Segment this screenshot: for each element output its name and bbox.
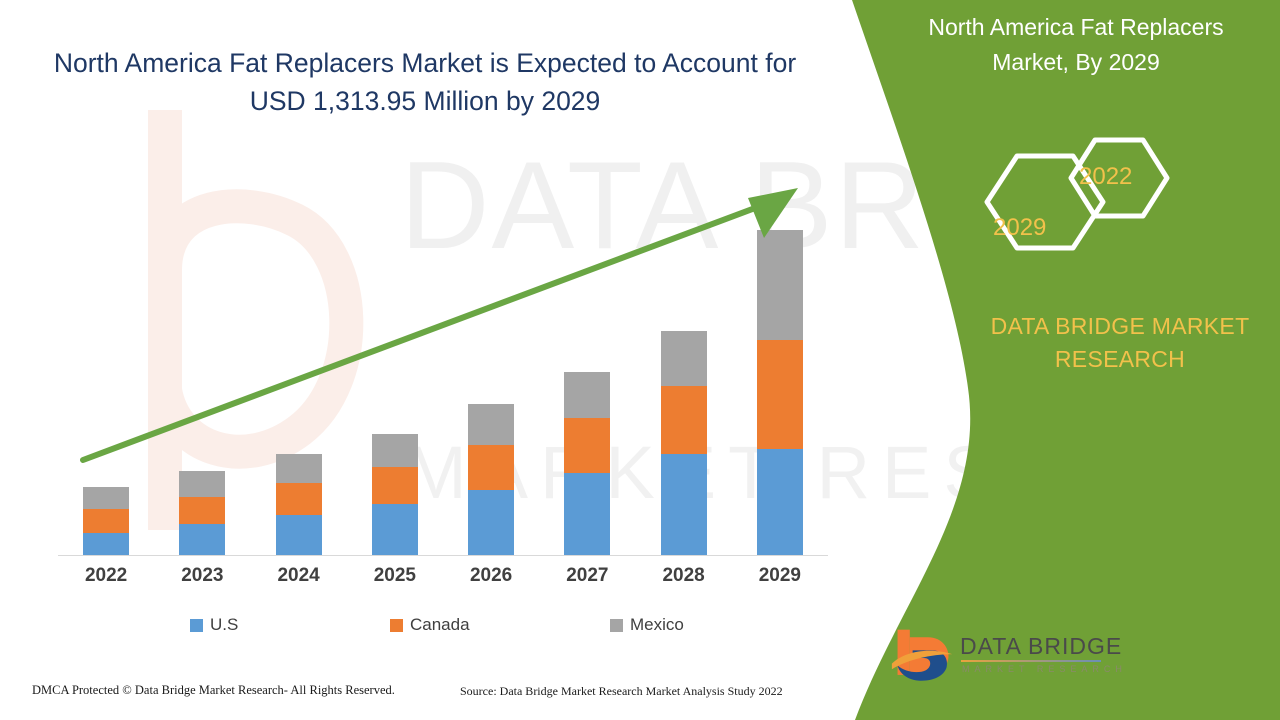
data-bridge-logo: DATA BRIDGE MARKET RESEARCH [890, 625, 1120, 695]
hexagon-label-2022: 2022 [1079, 163, 1132, 191]
db-mark-icon [890, 627, 956, 687]
hexagon-label-2029: 2029 [993, 214, 1046, 242]
logo-name: DATA BRIDGE [960, 633, 1122, 660]
logo-tagline: MARKET RESEARCH [962, 664, 1127, 674]
hexagon-outlines-icon [975, 130, 1195, 290]
footer-copyright: DMCA Protected © Data Bridge Market Rese… [32, 683, 395, 698]
brand-name: DATA BRIDGE MARKET RESEARCH [950, 310, 1280, 377]
footer-source: Source: Data Bridge Market Research Mark… [460, 684, 783, 699]
hexagon-group: 2029 2022 [975, 130, 1195, 290]
logo-divider [961, 660, 1101, 662]
panel-title: North America Fat Replacers Market, By 2… [900, 10, 1252, 79]
infographic-page: DATA BRIDGE MARKET RESEARCH North Americ… [0, 0, 1280, 720]
